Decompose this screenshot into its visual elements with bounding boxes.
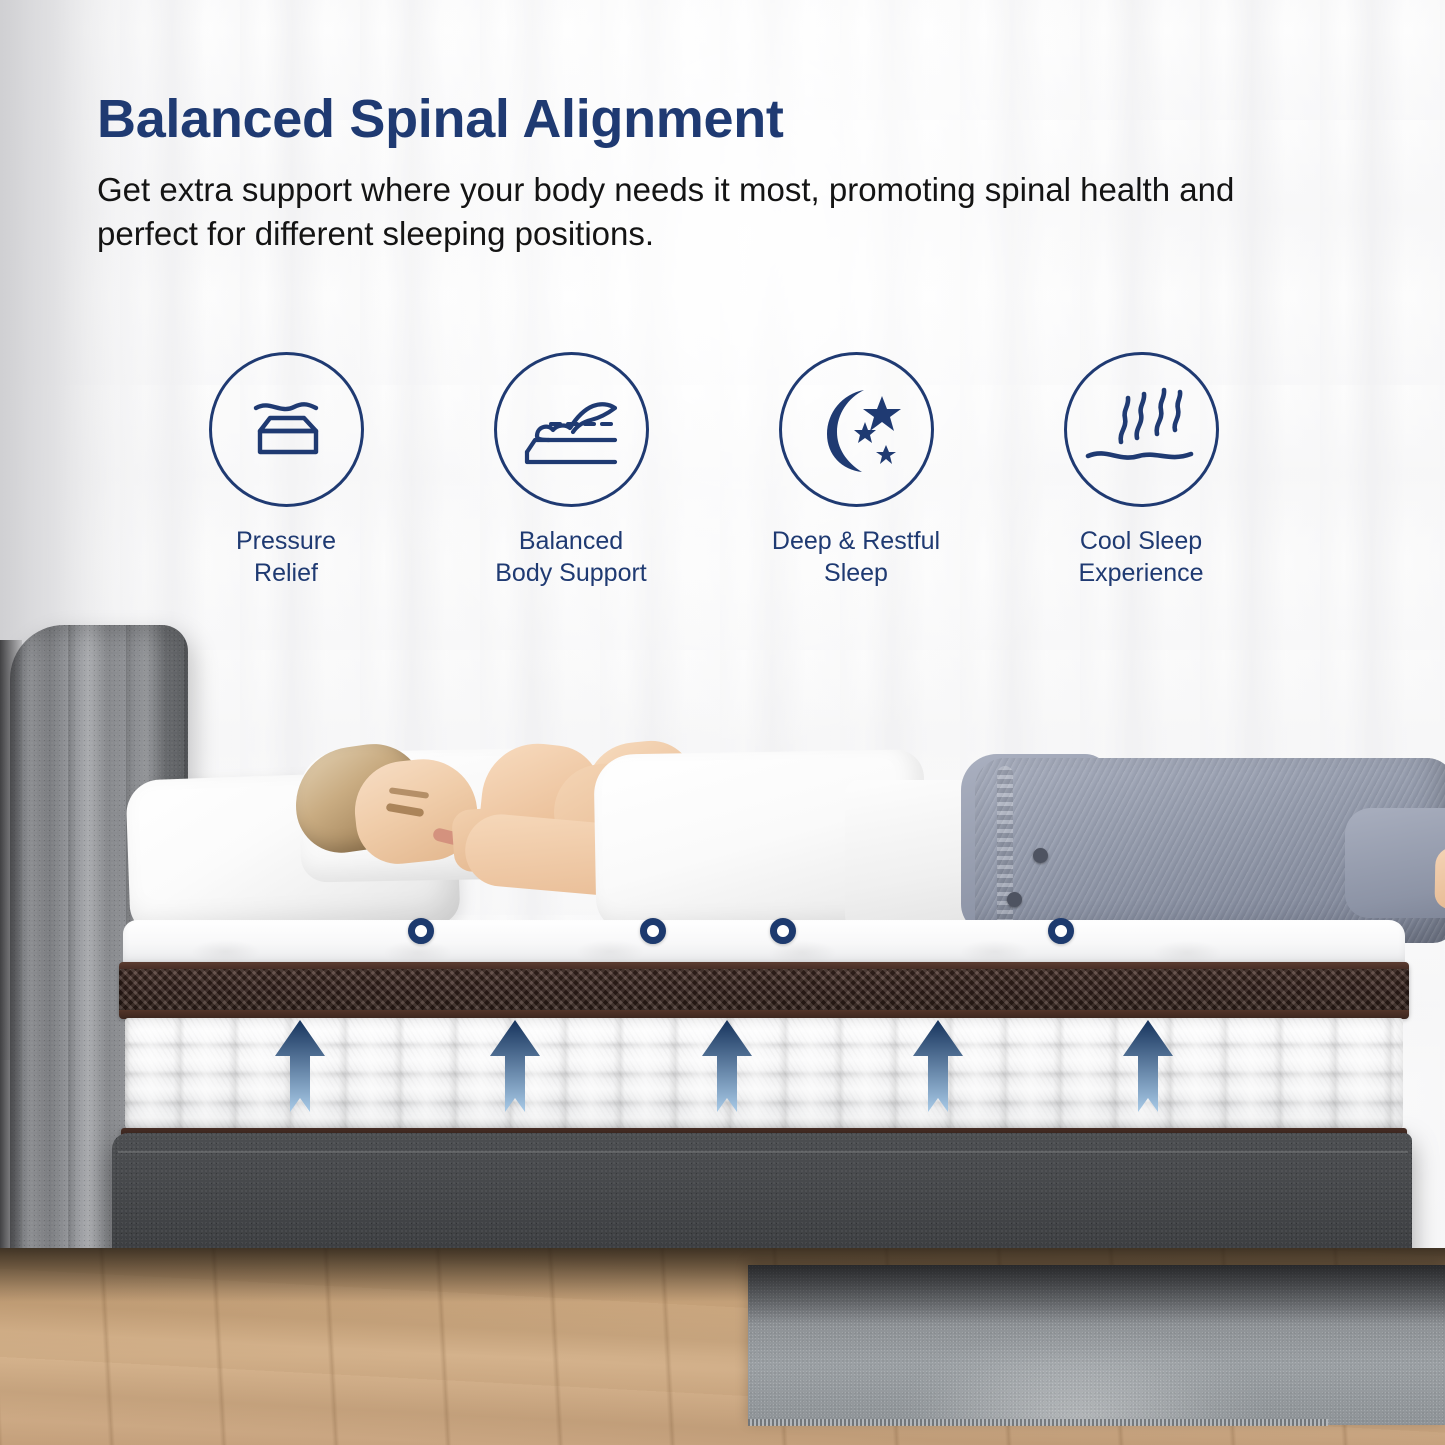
body-alignment-icon (515, 378, 627, 482)
rug-shadow (748, 1265, 1445, 1325)
support-arrow (487, 1018, 543, 1114)
bedroom-scene (0, 600, 1445, 1445)
feature-icon-circle (779, 352, 934, 507)
mattress-pillow-top-surface (123, 920, 1405, 964)
lower-leg (1345, 808, 1445, 918)
feature-label: Cool Sleep Experience (996, 525, 1286, 589)
pants-button (1033, 848, 1048, 863)
feature-label: Deep & Restful Sleep (711, 525, 1001, 589)
support-arrow (910, 1018, 966, 1114)
moon-stars-icon (802, 376, 910, 484)
mattress-band-top-trim (119, 962, 1409, 969)
mattress-pressure-icon (234, 378, 338, 482)
pants-gather-seam (997, 766, 1013, 934)
side-sleeping-woman (285, 720, 1295, 940)
feature-icon-circle (1064, 352, 1219, 507)
feature-row: Pressure Relief Balanced Body Support (0, 352, 1445, 582)
page-subtitle: Get extra support where your body needs … (97, 168, 1277, 256)
support-arrow (1120, 1018, 1176, 1114)
alignment-marker (770, 918, 796, 944)
feature-pressure-relief: Pressure Relief (141, 352, 431, 589)
alignment-marker (1048, 918, 1074, 944)
alignment-marker (640, 918, 666, 944)
support-arrow (272, 1018, 328, 1114)
pants-button (1007, 892, 1022, 907)
bed-base-seam (118, 1151, 1408, 1153)
airflow-cooling-icon (1085, 376, 1197, 484)
feature-deep-restful-sleep: Deep & Restful Sleep (711, 352, 1001, 589)
page-title: Balanced Spinal Alignment (97, 88, 784, 150)
feature-balanced-body-support: Balanced Body Support (426, 352, 716, 589)
rug-fringe (748, 1419, 1328, 1426)
feature-icon-circle (209, 352, 364, 507)
feature-label: Pressure Relief (141, 525, 431, 589)
feature-cool-sleep-experience: Cool Sleep Experience (996, 352, 1286, 589)
feature-icon-circle (494, 352, 649, 507)
product-infographic: Balanced Spinal Alignment Get extra supp… (0, 0, 1445, 1445)
alignment-marker (408, 918, 434, 944)
support-arrow (699, 1018, 755, 1114)
headboard-shadow (0, 640, 22, 1300)
feature-label: Balanced Body Support (426, 525, 716, 589)
